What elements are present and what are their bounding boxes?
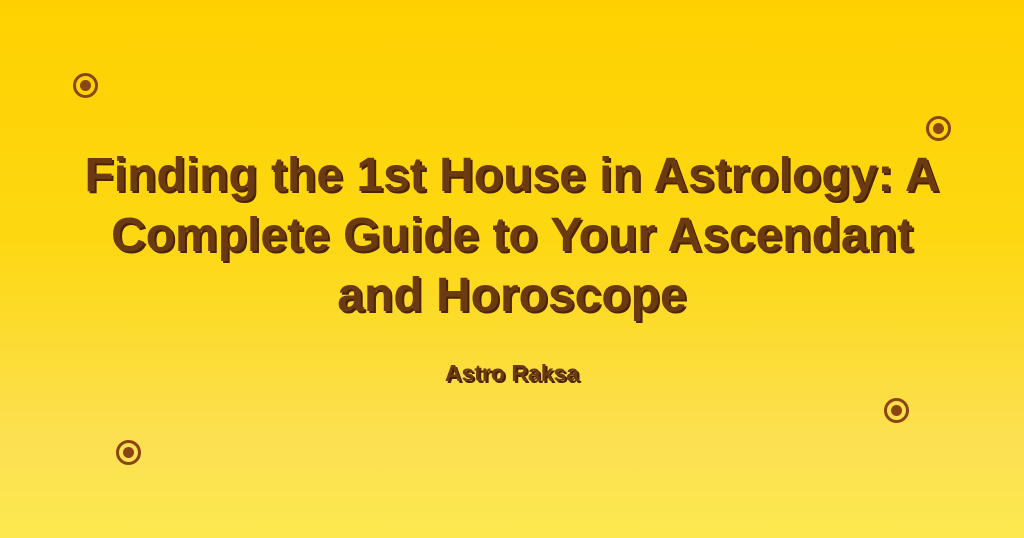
slide-title: Finding the 1st House in Astrology: A Co… — [72, 146, 952, 326]
slide-subtitle: Astro Raksa — [445, 359, 579, 387]
presentation-slide: Finding the 1st House in Astrology: A Co… — [0, 0, 1024, 538]
slide-content: Finding the 1st House in Astrology: A Co… — [0, 0, 1024, 538]
